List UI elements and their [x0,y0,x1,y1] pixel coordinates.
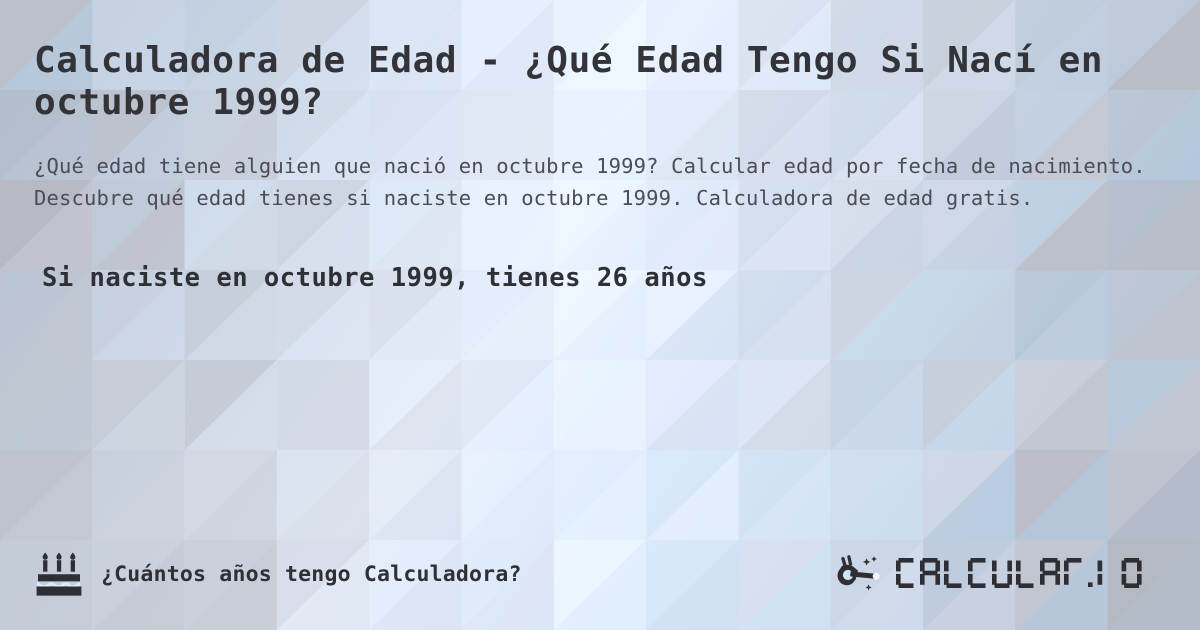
footer-label: ¿Cuántos años tengo Calculadora? [101,562,522,587]
brand-wordmark [894,554,1166,594]
magic-wand-hand-icon [836,553,884,595]
page-content: Calculadora de Edad - ¿Qué Edad Tengo Si… [0,0,1200,630]
footer-left-group: ¿Cuántos años tengo Calculadora? [34,552,522,596]
calculatio-brand-link[interactable] [836,553,1166,595]
birthday-cake-icon [34,552,84,596]
page-title: Calculadora de Edad - ¿Qué Edad Tengo Si… [34,40,1166,124]
footer-bar: ¿Cuántos años tengo Calculadora? [0,546,1200,602]
intro-paragraph: ¿Qué edad tiene alguien que nació en oct… [34,151,1166,215]
age-result-text: Si naciste en octubre 1999, tienes 26 añ… [34,263,1166,293]
